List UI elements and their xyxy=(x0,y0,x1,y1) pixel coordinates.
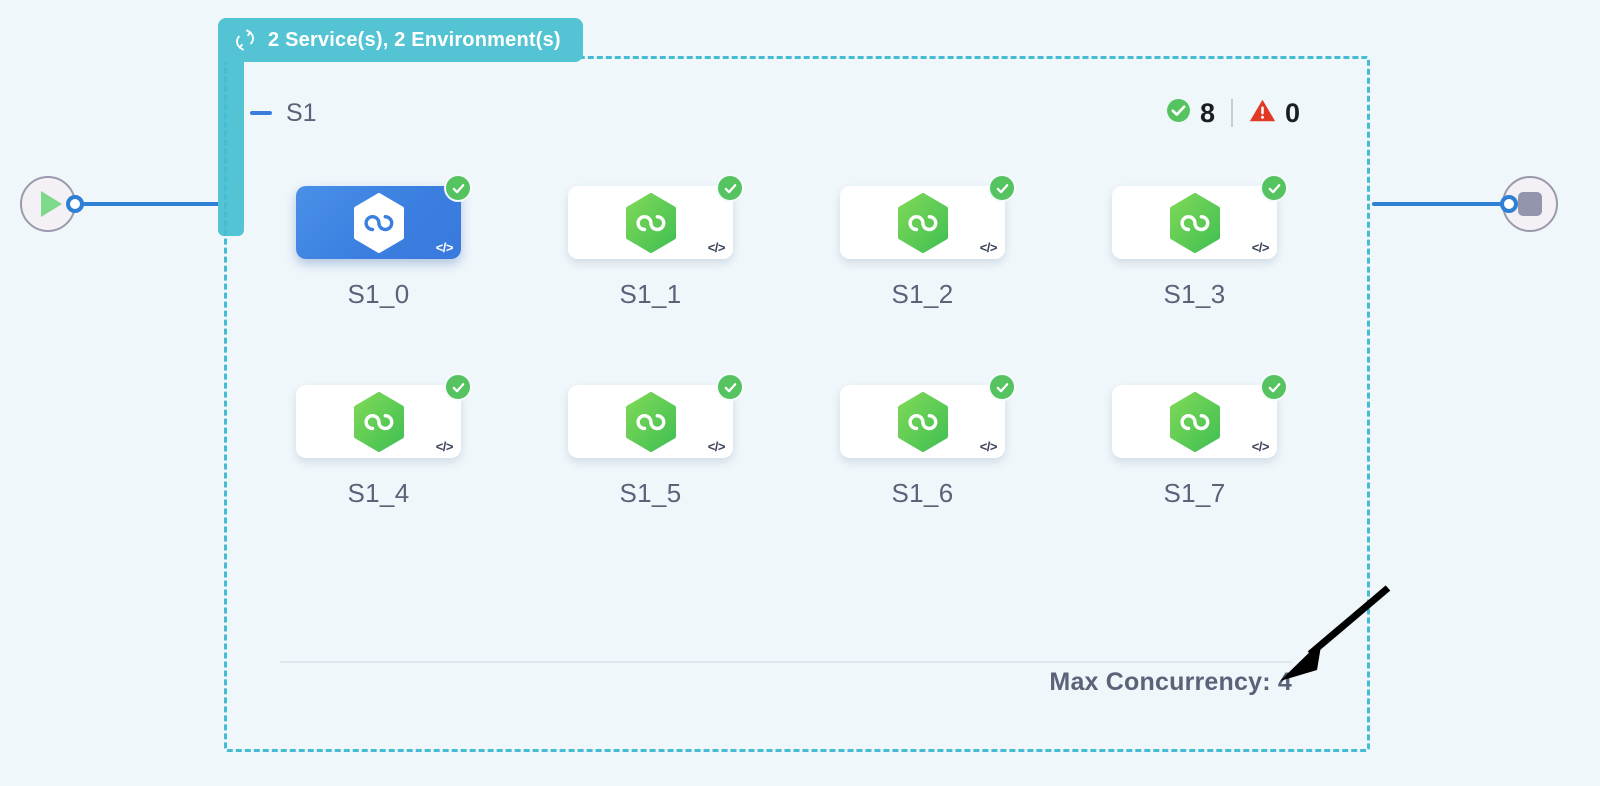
edge-start-to-group xyxy=(72,202,230,206)
service-card-label: S1_7 xyxy=(1164,478,1226,509)
code-icon[interactable]: </> xyxy=(436,240,453,255)
service-card-cell: </>S1_7 xyxy=(1112,385,1277,509)
service-card-label: S1_0 xyxy=(348,279,410,310)
service-card-cell: </>S1_2 xyxy=(840,186,1005,310)
service-card-label: S1_3 xyxy=(1164,279,1226,310)
service-hexagon-icon xyxy=(895,392,951,452)
warning-status: 0 xyxy=(1249,98,1300,128)
service-hexagon-icon xyxy=(1167,193,1223,253)
end-node-port[interactable] xyxy=(1500,195,1518,213)
warning-triangle-icon xyxy=(1249,98,1276,128)
code-icon[interactable]: </> xyxy=(980,240,997,255)
card-status-check-icon xyxy=(1260,373,1288,401)
service-card-cell: </>S1_4 xyxy=(296,385,461,509)
service-card-row: </>S1_0</>S1_1</>S1_2</>S1_3 xyxy=(296,186,1296,310)
code-icon[interactable]: </> xyxy=(980,439,997,454)
service-card-cell: </>S1_0 xyxy=(296,186,461,310)
status-cluster: 8 0 xyxy=(1166,98,1346,128)
service-card-cell: </>S1_5 xyxy=(568,385,733,509)
group-title: S1 xyxy=(286,99,317,128)
check-circle-icon xyxy=(1166,98,1191,128)
warning-count: 0 xyxy=(1285,100,1300,127)
code-icon[interactable]: </> xyxy=(1252,240,1269,255)
service-card-row: </>S1_4</>S1_5</>S1_6</>S1_7 xyxy=(296,385,1296,509)
service-card-label: S1_4 xyxy=(348,478,410,509)
service-hexagon-icon xyxy=(351,193,407,253)
card-status-check-icon xyxy=(716,174,744,202)
service-card-s1_3[interactable]: </> xyxy=(1112,186,1277,259)
service-card-cell: </>S1_1 xyxy=(568,186,733,310)
service-card-s1_0[interactable]: </> xyxy=(296,186,461,259)
service-card-cell: </>S1_3 xyxy=(1112,186,1277,310)
minus-icon xyxy=(250,111,272,115)
workflow-canvas: 2 Service(s), 2 Environment(s) S1 8 xyxy=(0,0,1600,786)
stop-icon xyxy=(1518,192,1542,216)
card-status-check-icon xyxy=(444,373,472,401)
service-card-cell: </>S1_6 xyxy=(840,385,1005,509)
service-card-s1_7[interactable]: </> xyxy=(1112,385,1277,458)
code-icon[interactable]: </> xyxy=(708,439,725,454)
play-icon xyxy=(41,191,62,217)
service-card-label: S1_5 xyxy=(620,478,682,509)
service-hexagon-icon xyxy=(623,392,679,452)
max-concurrency-label: Max Concurrency: 4 xyxy=(1049,668,1292,697)
service-card-s1_2[interactable]: </> xyxy=(840,186,1005,259)
collapse-toggle-button[interactable] xyxy=(248,100,274,126)
success-status: 8 xyxy=(1166,98,1215,128)
group-title-row: S1 8 xyxy=(248,92,1346,134)
code-icon[interactable]: </> xyxy=(708,240,725,255)
success-count: 8 xyxy=(1200,100,1215,127)
group-header-badge[interactable]: 2 Service(s), 2 Environment(s) xyxy=(218,18,583,62)
code-icon[interactable]: </> xyxy=(1252,439,1269,454)
start-node-port[interactable] xyxy=(66,195,84,213)
group-footer-divider xyxy=(280,661,1292,663)
service-card-label: S1_6 xyxy=(892,478,954,509)
loop-repeat-icon xyxy=(234,29,256,51)
service-card-s1_4[interactable]: </> xyxy=(296,385,461,458)
card-status-check-icon xyxy=(988,174,1016,202)
group-header-label: 2 Service(s), 2 Environment(s) xyxy=(268,29,561,52)
service-card-s1_6[interactable]: </> xyxy=(840,385,1005,458)
service-card-s1_1[interactable]: </> xyxy=(568,186,733,259)
service-hexagon-icon xyxy=(351,392,407,452)
card-status-check-icon xyxy=(1260,174,1288,202)
service-card-label: S1_1 xyxy=(620,279,682,310)
service-hexagon-icon xyxy=(1167,392,1223,452)
edge-group-to-end xyxy=(1372,202,1508,206)
service-hexagon-icon xyxy=(895,193,951,253)
card-status-check-icon xyxy=(716,373,744,401)
service-card-s1_5[interactable]: </> xyxy=(568,385,733,458)
service-card-label: S1_2 xyxy=(892,279,954,310)
status-divider xyxy=(1231,99,1233,127)
service-hexagon-icon xyxy=(623,193,679,253)
card-status-check-icon xyxy=(444,174,472,202)
code-icon[interactable]: </> xyxy=(436,439,453,454)
service-card-grid: </>S1_0</>S1_1</>S1_2</>S1_3</>S1_4</>S1… xyxy=(296,186,1296,584)
card-status-check-icon xyxy=(988,373,1016,401)
